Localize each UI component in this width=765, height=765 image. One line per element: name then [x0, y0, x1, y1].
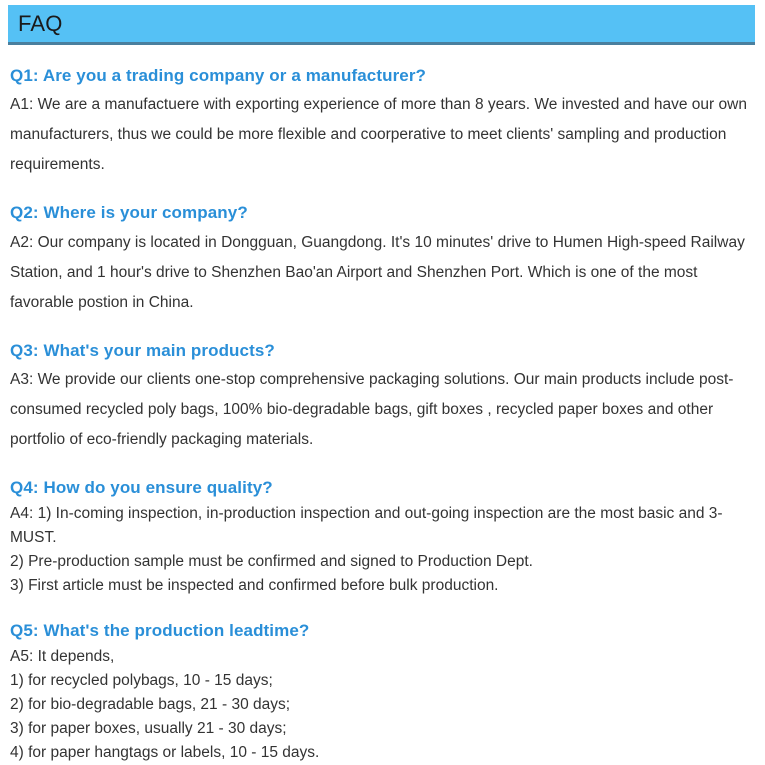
faq-answer: A1: We are a manufactuere with exporting… [10, 90, 752, 180]
faq-answer: A3: We provide our clients one-stop comp… [10, 365, 752, 455]
faq-answer-line: 2) for bio-degradable bags, 21 - 30 days… [10, 693, 752, 717]
faq-answer-line: 4) for paper hangtags or labels, 10 - 15… [10, 741, 752, 765]
faq-question: Q3: What's your main products? [10, 340, 755, 361]
faq-item: Q4: How do you ensure quality?A4: 1) In-… [10, 477, 755, 598]
faq-item: Q2: Where is your company?A2: Our compan… [10, 202, 755, 317]
faq-answer-line: 1) for recycled polybags, 10 - 15 days; [10, 669, 752, 693]
faq-answer-line: A4: 1) In-coming inspection, in-producti… [10, 502, 752, 550]
faq-answer: A4: 1) In-coming inspection, in-producti… [10, 502, 752, 598]
faq-question: Q5: What's the production leadtime? [10, 620, 755, 641]
faq-answer-line: 3) First article must be inspected and c… [10, 574, 752, 598]
faq-answer-line: 3) for paper boxes, usually 21 - 30 days… [10, 717, 752, 741]
faq-question: Q1: Are you a trading company or a manuf… [10, 65, 755, 86]
faq-answer-line: 2) Pre-production sample must be confirm… [10, 550, 752, 574]
faq-item: Q5: What's the production leadtime?A5: I… [10, 620, 755, 765]
faq-answer: A2: Our company is located in Dongguan, … [10, 228, 752, 318]
faq-question: Q4: How do you ensure quality? [10, 477, 755, 498]
faq-answer-line: A5: It depends, [10, 645, 752, 669]
faq-banner: FAQ [8, 5, 755, 45]
faq-content: Q1: Are you a trading company or a manuf… [0, 65, 765, 765]
faq-question: Q2: Where is your company? [10, 202, 755, 223]
faq-answer: A5: It depends,1) for recycled polybags,… [10, 645, 752, 765]
faq-item: Q3: What's your main products?A3: We pro… [10, 340, 755, 455]
faq-banner-title: FAQ [18, 13, 63, 35]
faq-page: FAQ Q1: Are you a trading company or a m… [0, 5, 765, 753]
faq-item: Q1: Are you a trading company or a manuf… [10, 65, 755, 180]
